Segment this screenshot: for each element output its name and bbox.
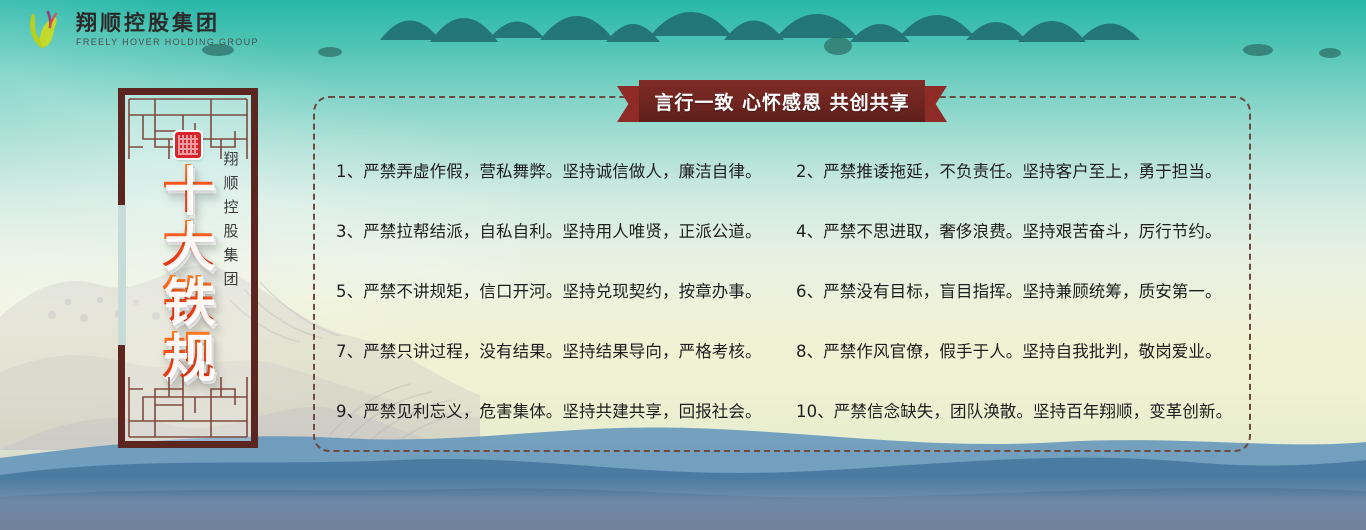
rule-item-4: 4、严禁不思进取，奢侈浪费。坚持艰苦奋斗，厉行节约。 <box>796 218 1246 242</box>
rule-item-10: 10、严禁信念缺失，团队涣散。坚持百年翔顺，变革创新。 <box>796 398 1246 422</box>
rules-row: 7、严禁只讲过程，没有结果。坚持结果导向，严格考核。 8、严禁作风官僚，假手于人… <box>336 320 1246 380</box>
rules-row: 1、严禁弄虚作假，营私舞弊。坚持诚信做人，廉洁自律。 2、严禁推诿拖延，不负责任… <box>336 140 1246 200</box>
rule-item-1: 1、严禁弄虚作假，营私舞弊。坚持诚信做人，廉洁自律。 <box>336 158 796 182</box>
slogan-ribbon: 言行一致 心怀感恩 共创共享 <box>617 80 947 122</box>
rule-item-5: 5、严禁不讲规矩，信口开河。坚持兑现契约，按章办事。 <box>336 278 796 302</box>
subtitle-char-3: 控 <box>223 200 238 215</box>
ribbon-body: 言行一致 心怀感恩 共创共享 <box>639 80 925 122</box>
subtitle-char-5: 集 <box>223 248 238 263</box>
rule-item-6: 6、严禁没有目标，盲目指挥。坚持兼顾统筹，质安第一。 <box>796 278 1246 302</box>
subtitle-char-1: 翔 <box>223 152 238 167</box>
slogan-text: 言行一致 心怀感恩 共创共享 <box>654 88 909 115</box>
vertical-title-plaque: 十 大 铁 规 翔 顺 控 股 集 团 <box>118 88 258 448</box>
rule-item-7: 7、严禁只讲过程，没有结果。坚持结果导向，严格考核。 <box>336 338 796 362</box>
mountain-range-near <box>0 455 1366 530</box>
rules-list: 1、严禁弄虚作假，营私舞弊。坚持诚信做人，廉洁自律。 2、严禁推诿拖延，不负责任… <box>336 140 1246 440</box>
plaque-vertical-subtitle: 翔 顺 控 股 集 团 <box>218 152 244 287</box>
rule-item-9: 9、严禁见利忘义，危害集体。坚持共建共享，回报社会。 <box>336 398 796 422</box>
subtitle-char-6: 团 <box>223 272 238 287</box>
poster-canvas: 翔顺控股集团 FREELY HOVER HOLDING GROUP 十 大 铁 … <box>0 0 1366 530</box>
rule-item-8: 8、严禁作风官僚，假手于人。坚持自我批判，敬岗爱业。 <box>796 338 1246 362</box>
foreground-mist <box>0 478 1366 530</box>
title-char-2: 大 <box>162 220 214 274</box>
subtitle-char-2: 顺 <box>223 176 238 191</box>
rules-row: 5、严禁不讲规矩，信口开河。坚持兑现契约，按章办事。 6、严禁没有目标，盲目指挥… <box>336 260 1246 320</box>
rule-item-3: 3、严禁拉帮结派，自私自利。坚持用人唯贤，正派公道。 <box>336 218 796 242</box>
brand-logo-header: 翔顺控股集团 FREELY HOVER HOLDING GROUP <box>20 8 259 52</box>
brand-name-en: FREELY HOVER HOLDING GROUP <box>76 38 259 47</box>
red-seal-stamp-icon <box>175 132 201 158</box>
subtitle-char-4: 股 <box>223 224 238 239</box>
rule-item-2: 2、严禁推诿拖延，不负责任。坚持客户至上，勇于担当。 <box>796 158 1246 182</box>
rules-row: 9、严禁见利忘义，危害集体。坚持共建共享，回报社会。 10、严禁信念缺失，团队涣… <box>336 380 1246 440</box>
brand-name-cn: 翔顺控股集团 <box>76 13 259 34</box>
leaf-swirl-logo-icon <box>20 8 66 52</box>
rules-row: 3、严禁拉帮结派，自私自利。坚持用人唯贤，正派公道。 4、严禁不思进取，奢侈浪费… <box>336 200 1246 260</box>
title-char-1: 十 <box>162 164 214 218</box>
title-char-3: 铁 <box>162 275 214 329</box>
lattice-pattern-bottom-decoration <box>125 373 251 441</box>
